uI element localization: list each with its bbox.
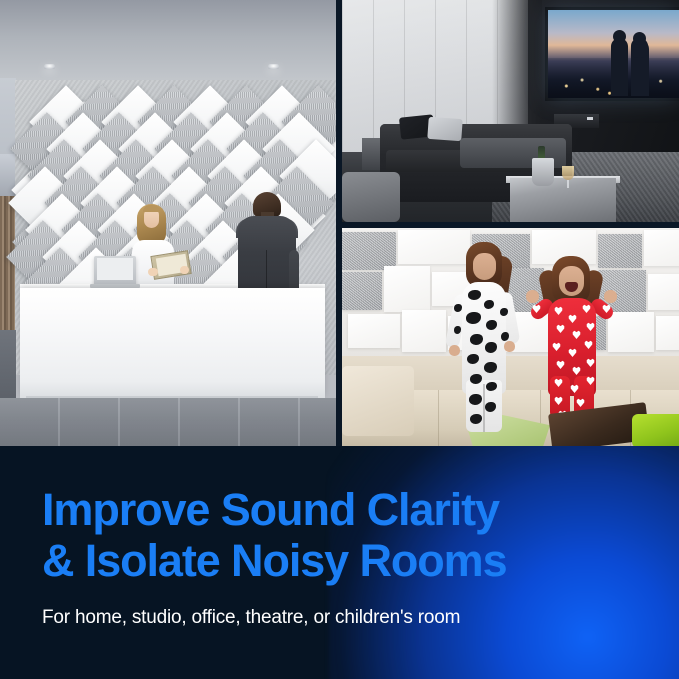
ottoman	[342, 172, 400, 222]
ceiling-light-icon	[268, 64, 279, 69]
collage-divider-horizontal	[342, 222, 679, 228]
green-cushion	[632, 414, 679, 446]
acoustic-panel-white	[402, 310, 446, 352]
acoustic-panel-grey	[342, 272, 382, 310]
sofa-cushion-light	[427, 117, 462, 141]
acoustic-panel-white	[644, 230, 679, 266]
banner-subheadline: For home, studio, office, theatre, or ch…	[42, 606, 460, 630]
silhouette-head	[633, 32, 646, 45]
cow-print-onesie	[462, 282, 506, 394]
reception-desk	[20, 288, 325, 398]
photo-reception-office	[0, 0, 336, 446]
acoustic-panel-white	[608, 312, 654, 352]
receptionist-hand	[180, 266, 189, 274]
wine-glass-stem	[567, 180, 569, 188]
acoustic-panel-grey	[342, 232, 396, 270]
receptionist-hand	[148, 268, 158, 276]
coffee-table	[510, 178, 616, 222]
ceiling-light-icon	[44, 64, 55, 69]
banner-headline: Improve Sound Clarity & Isolate Noisy Ro…	[42, 484, 642, 586]
child-heart-pyjamas	[530, 256, 614, 416]
screen-couple-silhouette	[607, 30, 653, 96]
floor-shadow	[0, 330, 16, 400]
acoustic-panel-white	[656, 316, 679, 350]
child-cow-pyjamas	[452, 242, 514, 428]
photo-home-theatre	[342, 0, 679, 222]
ceiling	[0, 0, 336, 82]
child-hand	[526, 290, 539, 303]
ice-bucket	[532, 158, 554, 186]
sofa-cushion	[342, 366, 414, 436]
silhouette-head	[613, 30, 626, 43]
child-face	[473, 253, 496, 280]
child-hand	[604, 290, 617, 303]
product-lifestyle-banner: Improve Sound Clarity & Isolate Noisy Ro…	[0, 0, 679, 679]
tiled-floor	[0, 398, 336, 446]
sofa-seam	[438, 390, 439, 446]
silhouette-person	[611, 38, 628, 96]
acoustic-panel-white	[384, 266, 430, 312]
receptionist-fringe	[143, 205, 160, 212]
acoustic-panel-white	[648, 274, 679, 310]
child-hand	[504, 341, 515, 352]
child-hand	[449, 345, 460, 356]
acoustic-panel-white	[348, 314, 400, 348]
photo-children-room	[342, 228, 679, 446]
av-device	[587, 117, 593, 120]
wine-glass	[562, 166, 574, 180]
laptop-screen	[97, 258, 133, 280]
photo-collage	[0, 0, 679, 446]
